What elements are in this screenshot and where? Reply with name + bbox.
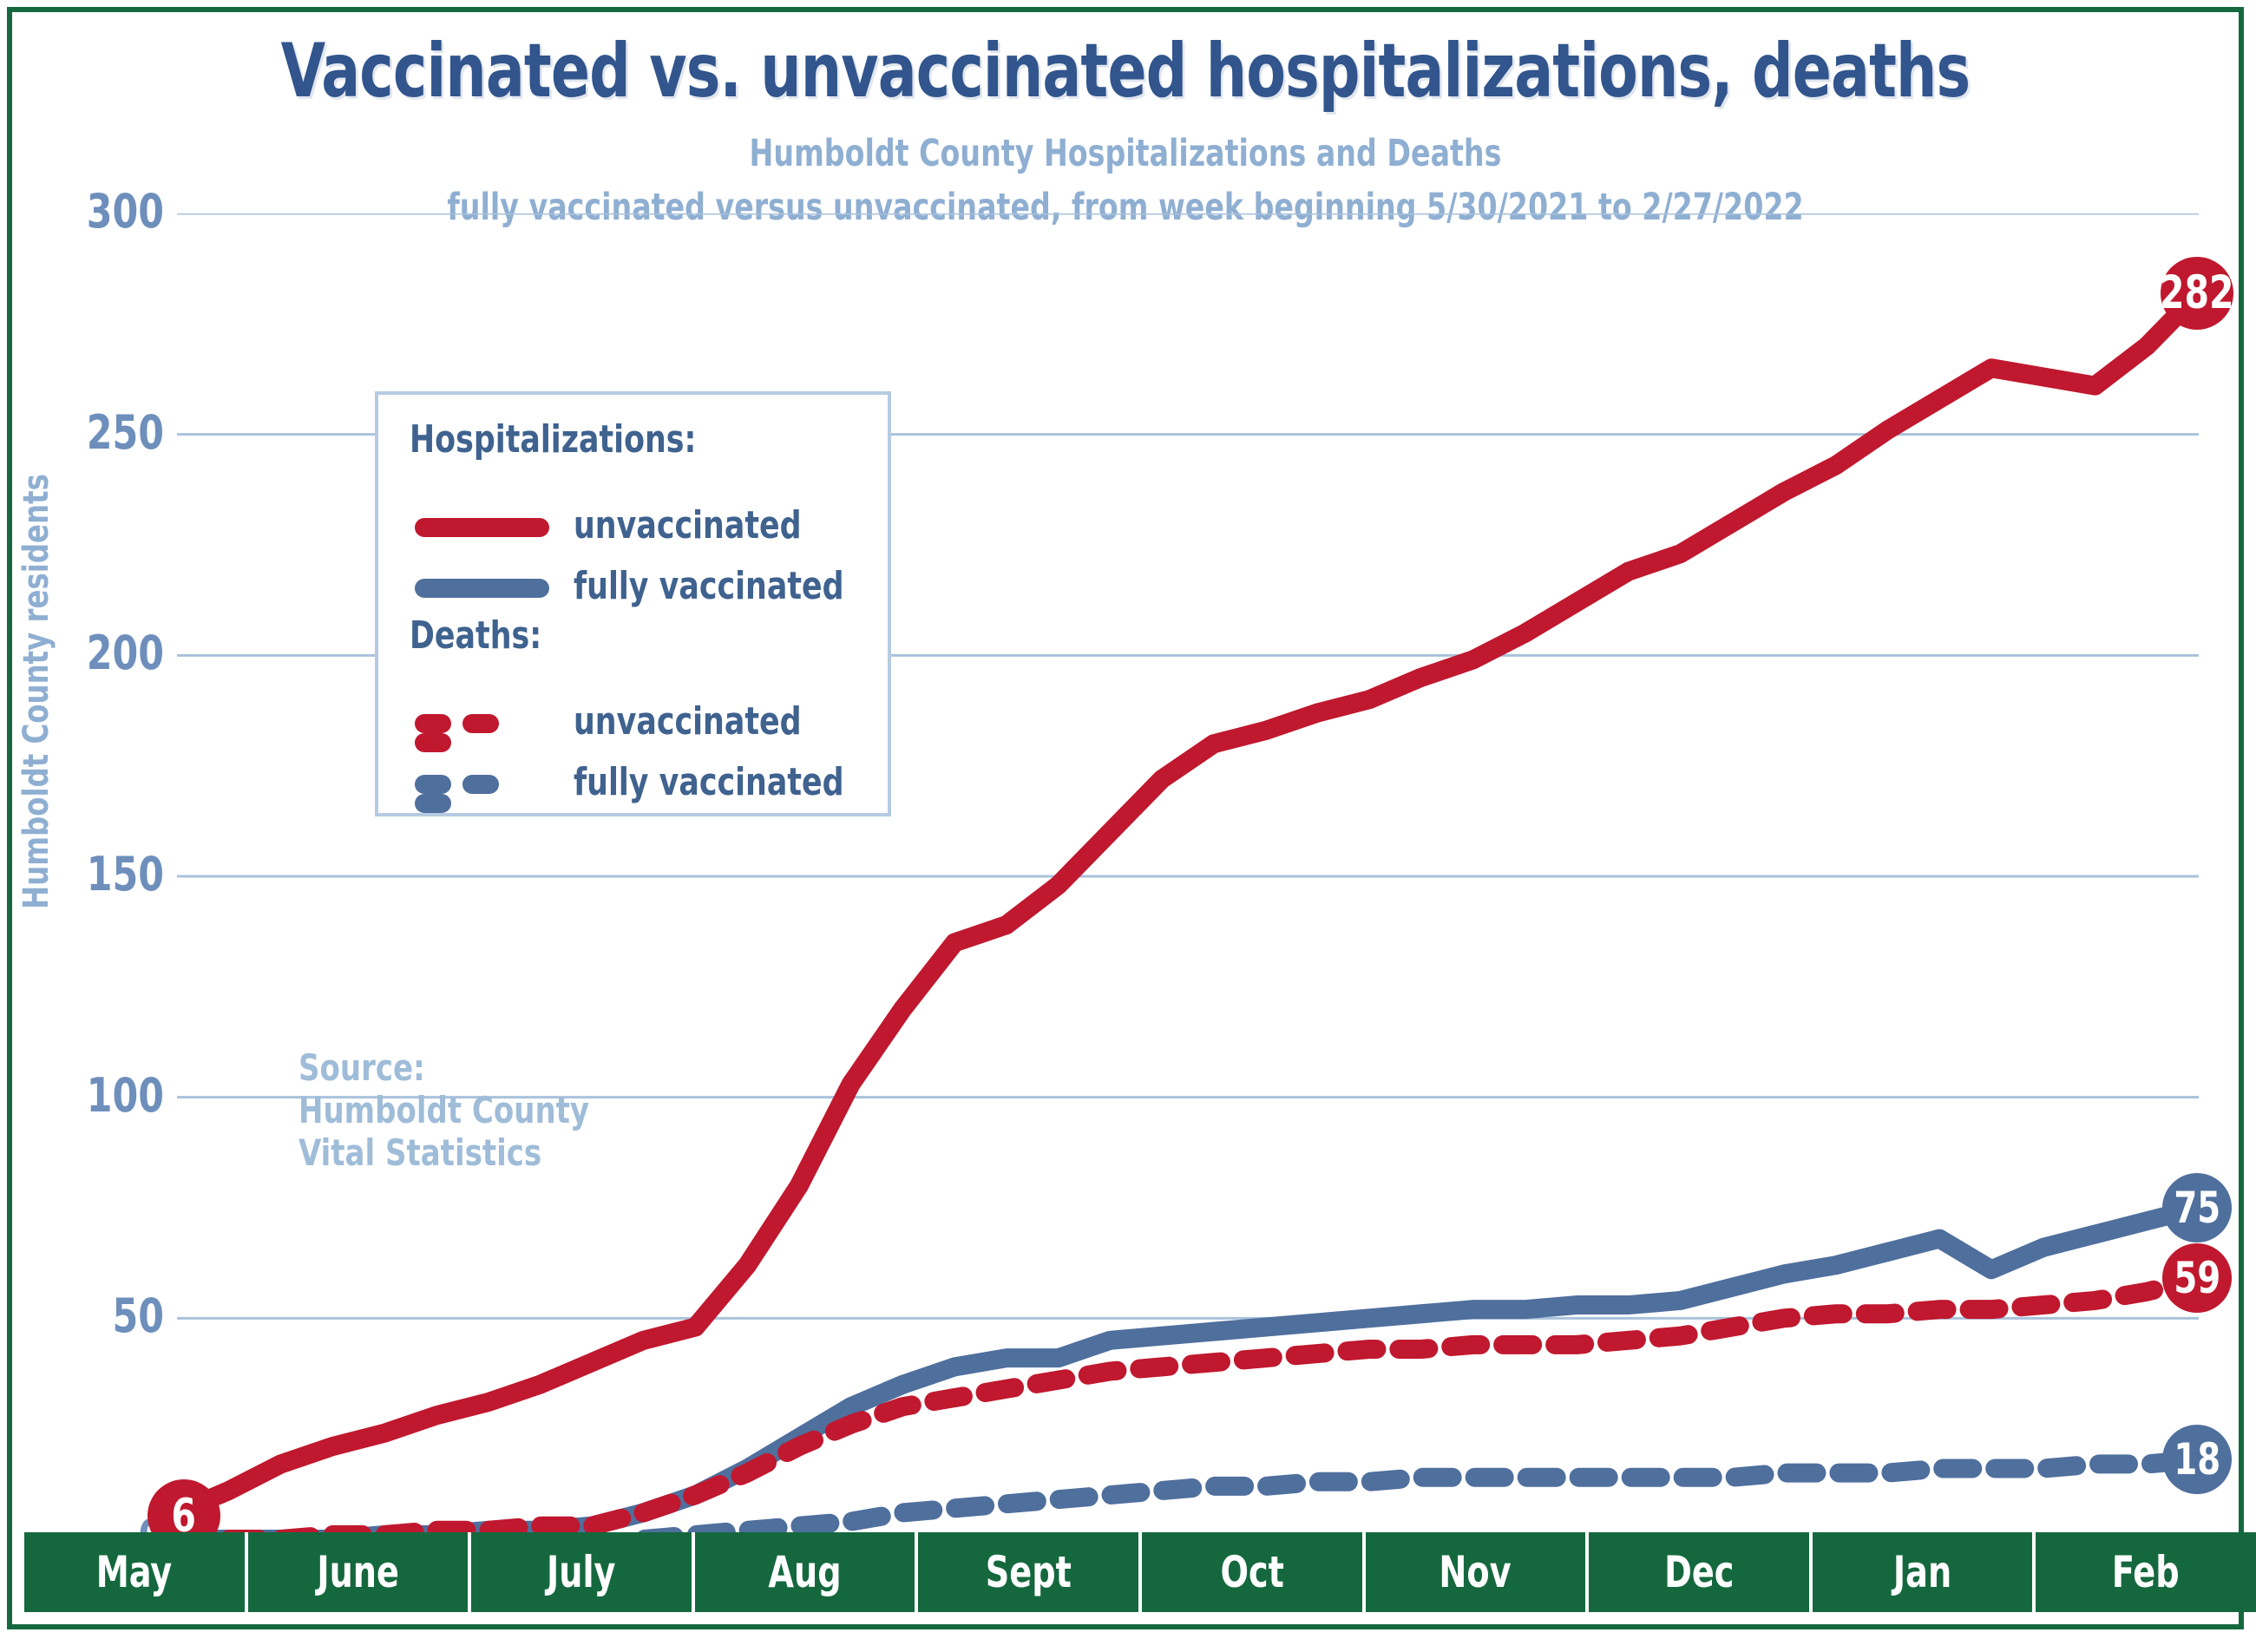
legend-swatch-hosp-vaccinated [415, 579, 549, 598]
x-axis-month-label: Jan [1893, 1547, 1951, 1597]
badge-deaths-vaccinated: 18 [2162, 1425, 2232, 1494]
x-axis-month-aug: Aug [695, 1532, 919, 1612]
badge-hosp-vaccinated: 75 [2162, 1173, 2232, 1242]
x-axis-month-label: June [317, 1547, 399, 1597]
x-axis-month-june: June [248, 1532, 472, 1612]
legend-label-hosp-vaccinated: fully vaccinated [574, 564, 844, 608]
source-note: Source: Humboldt County Vital Statistics [298, 1046, 589, 1174]
legend-group-deaths-title: Deaths: [410, 613, 541, 658]
x-axis-month-label: July [547, 1547, 615, 1597]
chart-subtitle-line1: Humboldt County Hospitalizations and Dea… [168, 132, 2083, 175]
x-axis-month-sept: Sept [918, 1532, 1142, 1612]
legend-swatch-deaths-unvaccinated [415, 714, 549, 733]
legend-label-hosp-unvaccinated: unvaccinated [574, 503, 802, 547]
x-axis-month-label: Nov [1440, 1547, 1512, 1597]
legend-label-deaths-vaccinated: fully vaccinated [574, 760, 844, 804]
x-axis-month-nov: Nov [1366, 1532, 1590, 1612]
y-axis-tick-50: 50 [46, 1288, 164, 1343]
x-axis-month-label: May [96, 1547, 172, 1597]
x-axis-month-bar: MayJuneJulyAugSeptOctNovDecJanFeb [24, 1532, 2256, 1612]
x-axis-month-oct: Oct [1142, 1532, 1366, 1612]
x-axis-month-may: May [24, 1532, 248, 1612]
badge-value: 18 [2174, 1434, 2220, 1485]
x-axis-month-label: Sept [986, 1547, 1072, 1597]
source-line-3: Vital Statistics [298, 1131, 589, 1174]
source-line-1: Source: [298, 1046, 589, 1089]
y-axis-tick-100: 100 [46, 1068, 164, 1123]
badge-deaths-unvaccinated: 59 [2162, 1243, 2232, 1313]
source-line-2: Humboldt County [298, 1089, 589, 1131]
chart-legend: Hospitalizations: unvaccinated fully vac… [375, 391, 891, 816]
y-axis-tick-150: 150 [46, 847, 164, 901]
legend-group-hospitalizations-title: Hospitalizations: [410, 417, 696, 462]
chart-title: Vaccinated vs. unvaccinated hospitalizat… [168, 28, 2083, 115]
x-axis-month-feb: Feb [2036, 1532, 2256, 1612]
x-axis-month-label: Feb [2112, 1547, 2180, 1597]
x-axis-month-label: Oct [1220, 1547, 1283, 1597]
badge-value: 282 [2160, 266, 2234, 319]
legend-swatch-deaths-vaccinated [415, 775, 549, 794]
badge-value: 59 [2174, 1253, 2220, 1303]
y-axis-tick-300: 300 [46, 184, 164, 239]
x-axis-month-july: July [471, 1532, 695, 1612]
x-axis-month-label: Dec [1664, 1547, 1734, 1597]
badge-hosp-unvaccinated: 282 [2161, 257, 2233, 330]
x-axis-month-label: Aug [768, 1547, 841, 1597]
y-axis-tick-250: 250 [46, 405, 164, 460]
badge-value: 75 [2174, 1183, 2220, 1233]
y-axis-tick-200: 200 [46, 626, 164, 680]
legend-label-deaths-unvaccinated: unvaccinated [574, 699, 802, 744]
legend-swatch-hosp-unvaccinated [415, 518, 549, 537]
y-axis-title: Humboldt County residents [16, 410, 56, 973]
chart-frame: Vaccinated vs. unvaccinated hospitalizat… [7, 7, 2244, 1629]
x-axis-month-jan: Jan [1813, 1532, 2036, 1612]
x-axis-month-dec: Dec [1589, 1532, 1813, 1612]
